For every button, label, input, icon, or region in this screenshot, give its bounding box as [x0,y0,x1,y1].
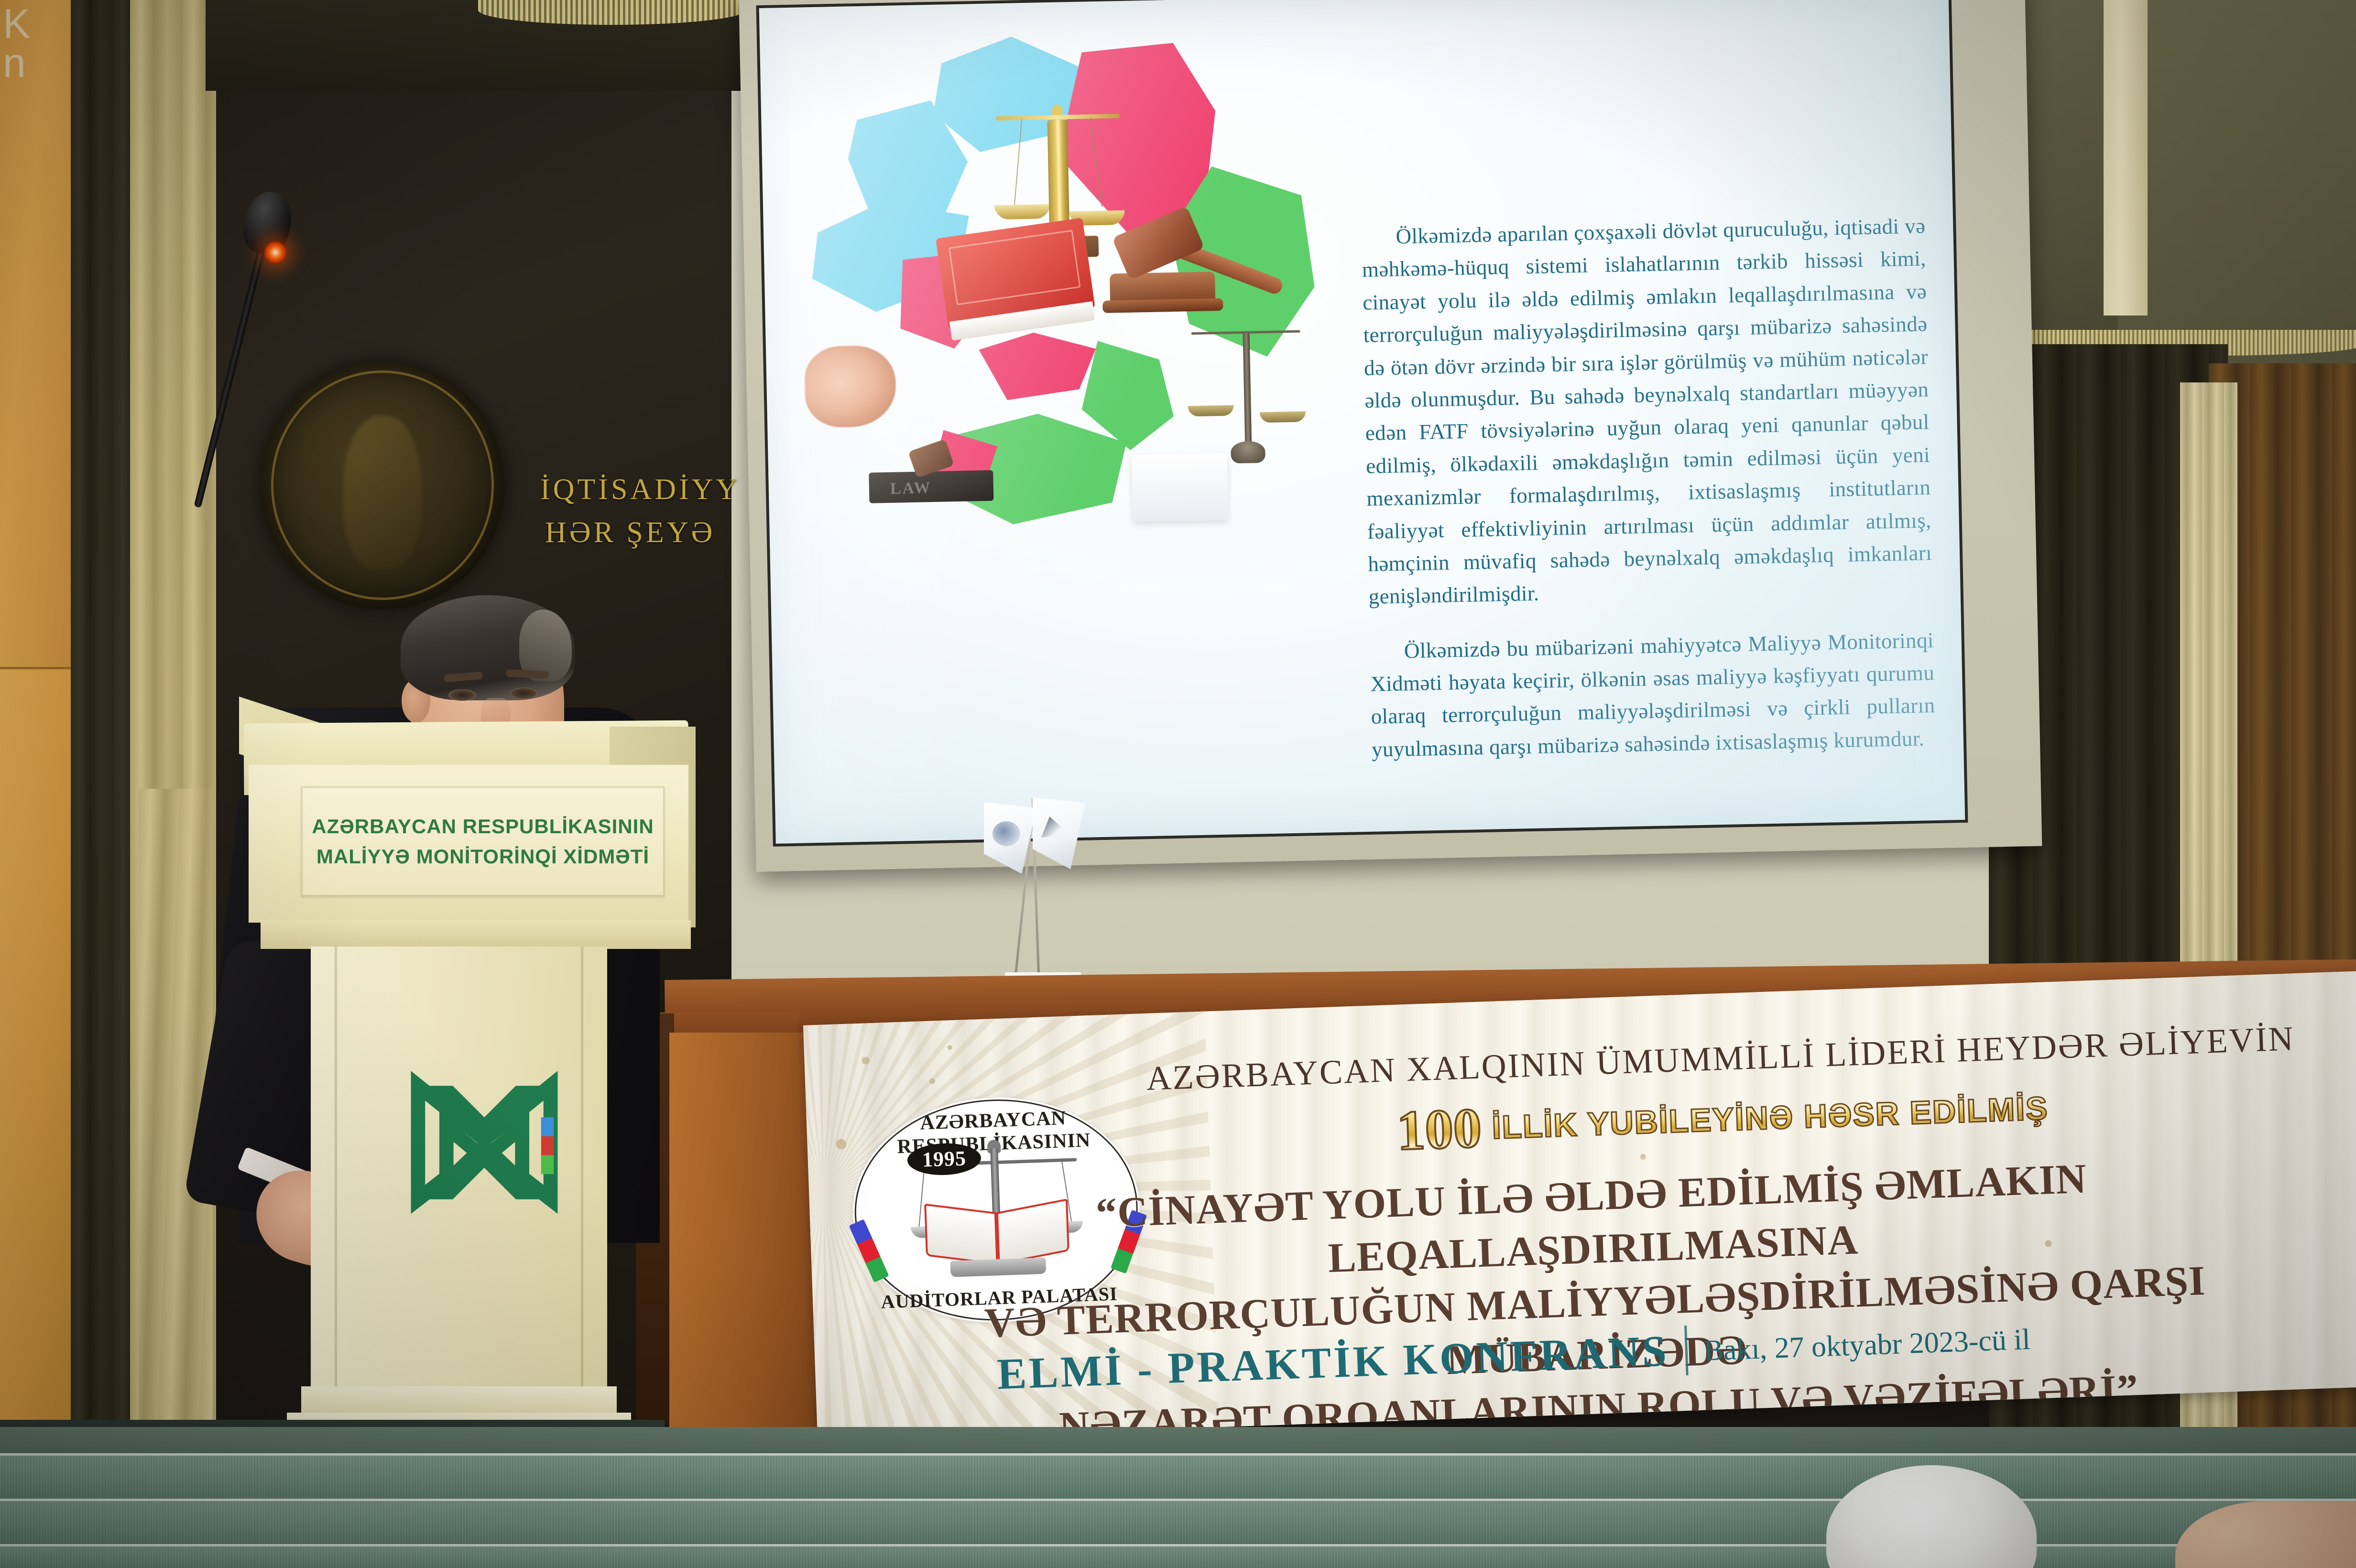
banner-anniversary-number: 100 [1396,1100,1483,1159]
speaker-hair [401,595,575,700]
podium-skirt [261,920,691,949]
conference-banner: AZƏRBAYCAN RESPUBLİKASININ 1995 AUDİTORL… [803,971,2356,1441]
wall-inscription-line2: HƏR ŞEYƏ [540,512,746,555]
curtain-right-tab [2104,0,2148,316]
curtain-dark-left [71,0,138,1434]
speaker-eye-left [448,689,476,701]
wall-inscription-line1: İQTİSADİYY [540,468,746,512]
banner-anniversary-text: İLLİK YUBİLEYİNƏ HƏSR EDİLMİŞ [1491,1089,2049,1146]
banner-divider [1684,1326,1689,1375]
desk-pennant-flags [961,789,1076,990]
conference-photo-scene: Kn İQTİSADİYY HƏR ŞEYƏ [0,0,2356,1568]
panel-letter-fragments: Kn [3,5,70,72]
podium-sign-line-2: MALİYYƏ MONİTORİNQİ XİDMƏTİ [301,841,665,871]
pennant-flag-left [984,802,1036,874]
document-icon [1132,453,1229,522]
handshake-icon [804,345,896,428]
law-plaque-icon: LAW [868,443,1013,518]
maliyye-monitorinqi-xidmeti-logo [405,1064,563,1221]
medallion-portrait-relief [343,415,421,569]
speaker-eye-right [510,687,537,699]
podium-sign-text: AZƏRBAYCAN RESPUBLİKASININ MALİYYƏ MONİT… [301,811,665,871]
slide-paragraph-1: Ölkəmizdə aparılan çoxşaxəli dövlət quru… [1361,209,1933,613]
projection-screen-frame: LAW Ölkəmizdə aparılan çoxşaxəli dövlət … [739,0,2042,872]
podium-base-upper [301,1386,617,1415]
projection-screen-surface: LAW Ölkəmizdə aparılan çoxşaxəli dövlət … [756,0,1968,847]
microphone-led-indicator [264,241,286,263]
wall-inscription: İQTİSADİYY HƏR ŞEYƏ [540,468,746,555]
slide-body-text: Ölkəmizdə aparılan çoxşaxəli dövlət quru… [1361,209,1936,766]
podium-name-plate: AZƏRBAYCAN RESPUBLİKASININ MALİYYƏ MONİT… [301,786,665,896]
podium-sign-line-1: AZƏRBAYCAN RESPUBLİKASININ [301,811,665,841]
gavel-icon [1089,213,1292,327]
slide-paragraph-2: Ölkəmizdə bu mübarizəni mahiyyətcə Maliy… [1369,624,1936,766]
slide-collage-image: LAW [788,21,1338,519]
